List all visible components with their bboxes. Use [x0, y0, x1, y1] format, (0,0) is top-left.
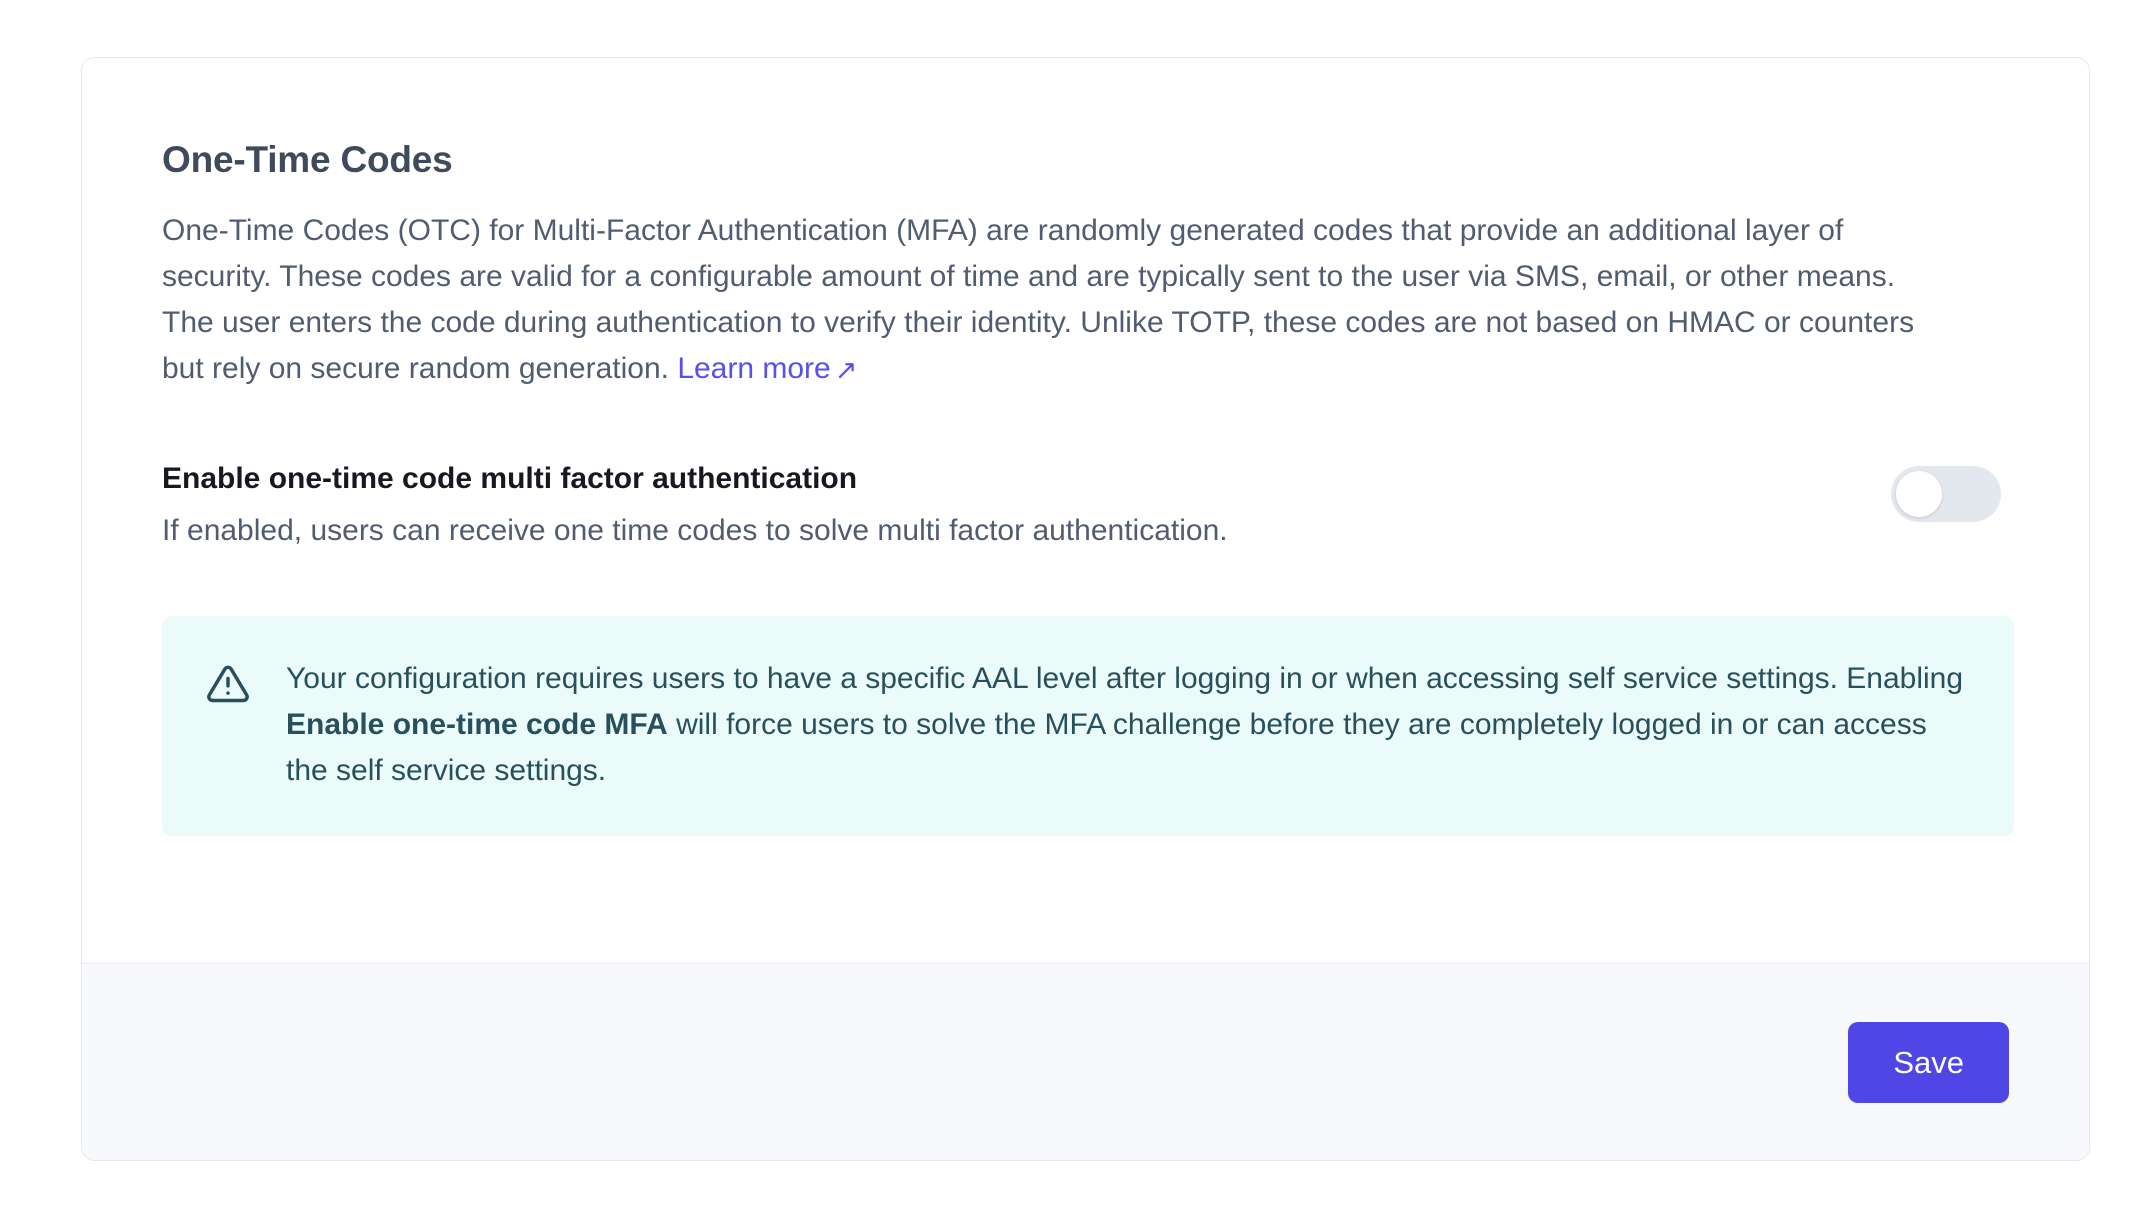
setting-label: Enable one-time code multi factor authen…	[162, 460, 1228, 498]
one-time-codes-card: One-Time Codes One-Time Codes (OTC) for …	[81, 57, 2090, 1161]
page-root: One-Time Codes One-Time Codes (OTC) for …	[0, 0, 2146, 1218]
enable-otc-mfa-toggle[interactable]	[1891, 466, 2001, 522]
setting-help-text: If enabled, users can receive one time c…	[162, 512, 1228, 550]
card-body: One-Time Codes One-Time Codes (OTC) for …	[82, 58, 2089, 963]
enable-otc-mfa-row: Enable one-time code multi factor authen…	[162, 460, 2009, 550]
external-link-arrow-icon: ↗	[835, 357, 858, 384]
save-button[interactable]: Save	[1848, 1022, 2009, 1103]
toggle-knob	[1896, 471, 1942, 517]
aal-warning-callout: Your configuration requires users to hav…	[162, 616, 2014, 836]
section-description: One-Time Codes (OTC) for Multi-Factor Au…	[162, 208, 1952, 392]
setting-text-group: Enable one-time code multi factor authen…	[162, 460, 1228, 550]
section-description-text: One-Time Codes (OTC) for Multi-Factor Au…	[162, 214, 1914, 385]
card-footer: Save	[82, 963, 2089, 1160]
learn-more-link[interactable]: Learn more↗	[677, 352, 857, 385]
learn-more-label: Learn more	[677, 352, 830, 385]
page-title: One-Time Codes	[162, 138, 2009, 182]
warning-triangle-icon	[206, 662, 250, 706]
callout-text-before: Your configuration requires users to hav…	[286, 662, 1963, 695]
callout-text-bold: Enable one-time code MFA	[286, 708, 668, 741]
callout-text: Your configuration requires users to hav…	[286, 656, 1970, 794]
